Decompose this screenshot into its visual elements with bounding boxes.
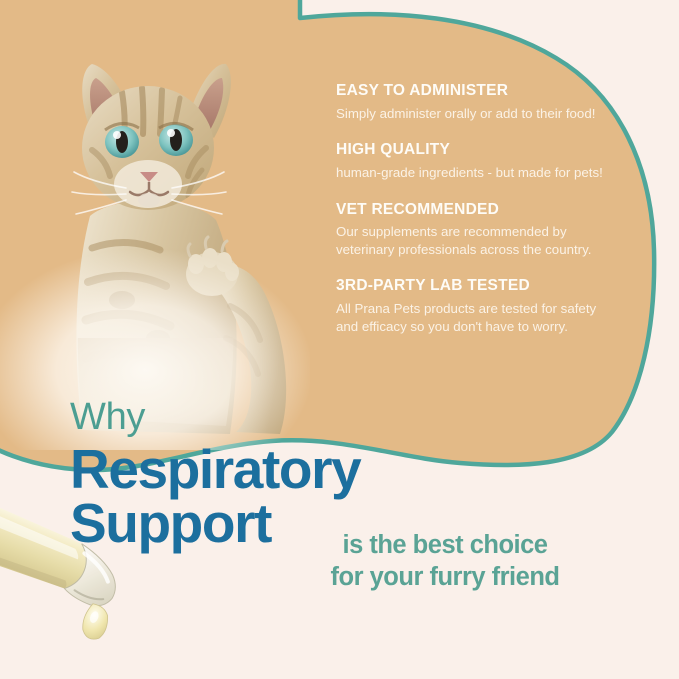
feature-body: All Prana Pets products are tested for s… — [336, 300, 604, 335]
product-name-line-1: Respiratory — [70, 443, 360, 497]
headline-why: Why — [70, 398, 360, 436]
feature-title: EASY TO ADMINISTER — [336, 82, 604, 101]
feature-body: Our supplements are recommended by veter… — [336, 223, 604, 258]
promotional-graphic: EASY TO ADMINISTER Simply administer ora… — [0, 0, 679, 679]
feature-item: 3RD-PARTY LAB TESTED All Prana Pets prod… — [336, 277, 604, 335]
tagline-line-1: is the best choice — [300, 530, 590, 562]
feature-title: 3RD-PARTY LAB TESTED — [336, 277, 604, 296]
feature-item: VET RECOMMENDED Our supplements are reco… — [336, 201, 604, 259]
feature-item: EASY TO ADMINISTER Simply administer ora… — [336, 82, 604, 122]
feature-title: VET RECOMMENDED — [336, 201, 604, 220]
tagline: is the best choice for your furry friend — [300, 530, 590, 593]
feature-title: HIGH QUALITY — [336, 141, 604, 160]
headline: Why Respiratory Support — [70, 398, 360, 551]
feature-item: HIGH QUALITY human-grade ingredients - b… — [336, 141, 604, 181]
tagline-line-2: for your furry friend — [300, 562, 590, 594]
feature-body: human-grade ingredients - but made for p… — [336, 164, 604, 182]
feature-list: EASY TO ADMINISTER Simply administer ora… — [336, 82, 604, 335]
feature-body: Simply administer orally or add to their… — [336, 105, 604, 123]
